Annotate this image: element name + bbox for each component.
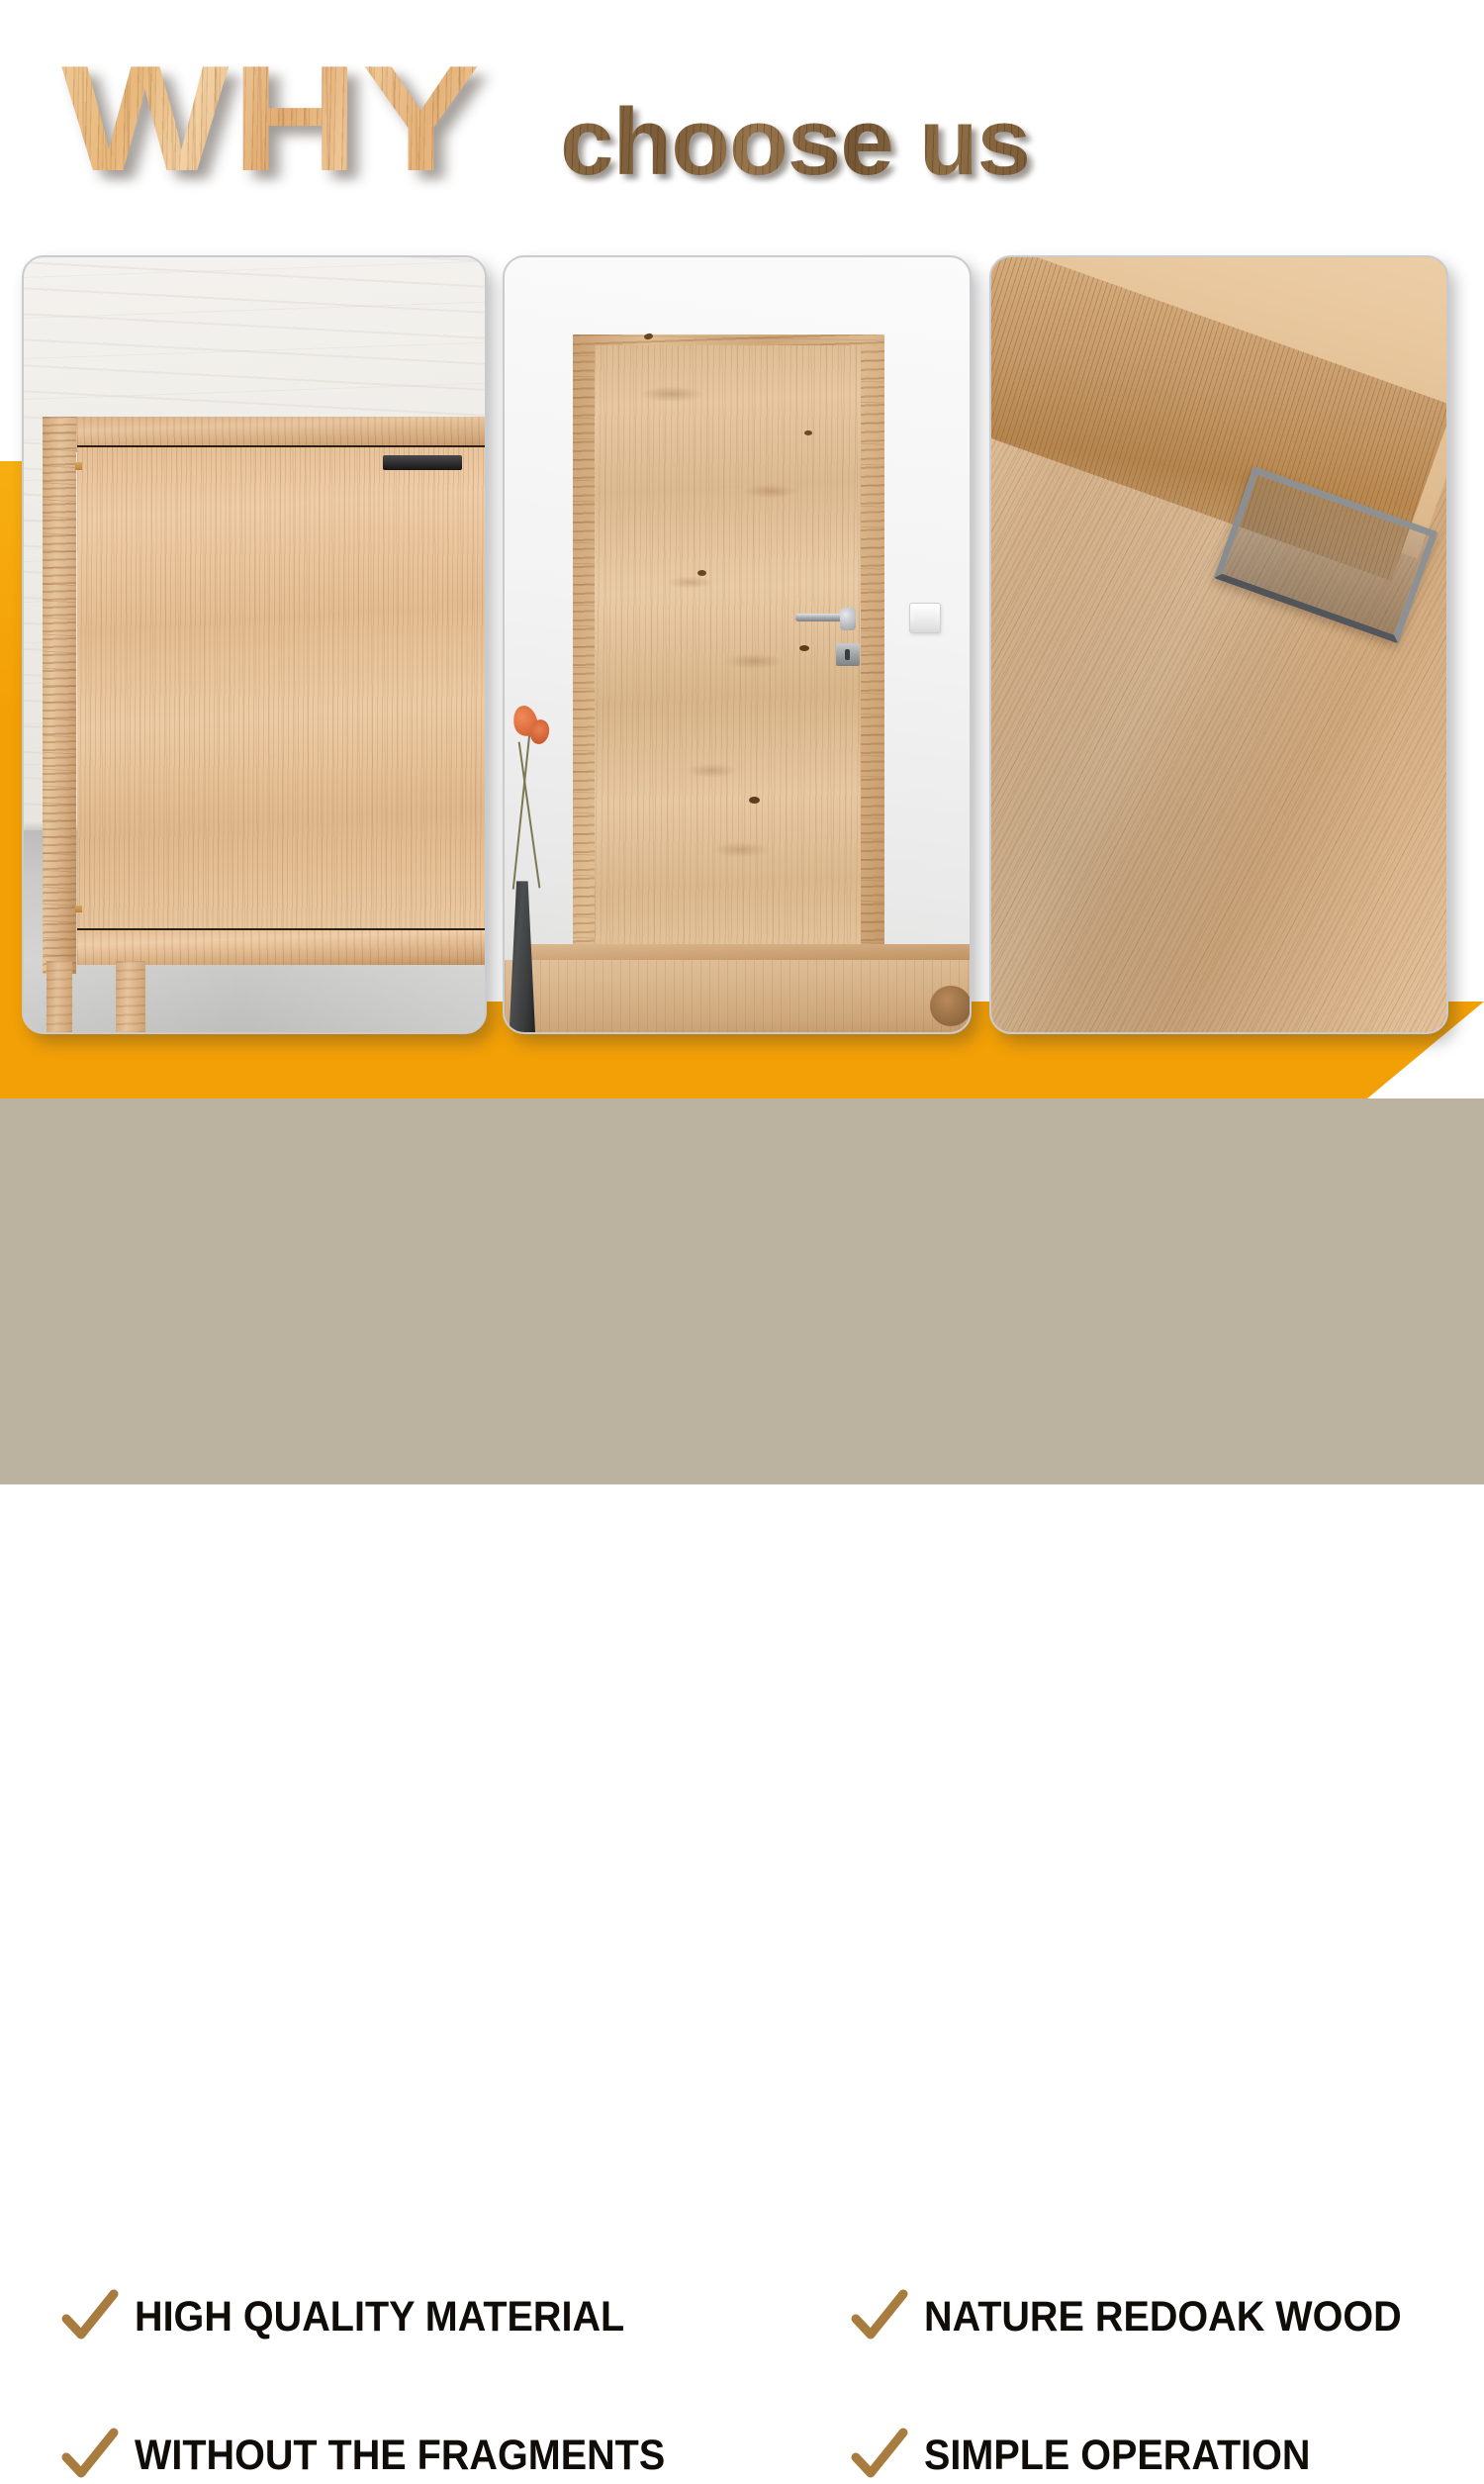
- page-title-secondary: choose us: [560, 95, 1030, 190]
- oak-plank-floor: [505, 960, 970, 1032]
- feature-label: WITHOUT THE FRAGMENTS: [135, 2433, 665, 2478]
- wood-knot: [749, 797, 760, 804]
- cabinet-leg-front: [46, 961, 72, 1032]
- features-panel: HIGH QUALITY MATERIAL NATURE REDOAK WOOD…: [0, 1099, 1484, 1484]
- feature-label: SIMPLE OPERATION: [924, 2433, 1311, 2478]
- check-icon: [61, 2288, 119, 2345]
- check-icon: [851, 2427, 908, 2484]
- cabinet-hinge-top: [75, 462, 82, 470]
- feature-item: NATURE REDOAK WOOD: [851, 2288, 1443, 2345]
- light-switch: [909, 603, 941, 633]
- cabinet-bar-handle: [383, 455, 461, 470]
- door-handle-rose: [840, 608, 856, 630]
- oak-door-leaf: [595, 345, 861, 953]
- oak-panel-handle-photo: [991, 257, 1446, 1032]
- check-icon: [851, 2288, 908, 2345]
- cabinet-leg-rear: [116, 961, 145, 1032]
- wood-knot: [697, 570, 706, 576]
- feature-label: HIGH QUALITY MATERIAL: [135, 2294, 624, 2340]
- feature-item: SIMPLE OPERATION: [851, 2427, 1344, 2484]
- oak-door-photo: [505, 257, 970, 1032]
- photo-gallery: [0, 255, 1484, 1037]
- oak-sideboard-photo: [24, 257, 485, 1032]
- gallery-photo-card[interactable]: [503, 255, 972, 1034]
- feature-item: HIGH QUALITY MATERIAL: [61, 2288, 667, 2345]
- feature-item: WITHOUT THE FRAGMENTS: [61, 2427, 711, 2484]
- check-icon: [61, 2427, 119, 2484]
- gallery-photo-card[interactable]: [989, 255, 1448, 1034]
- header-banner: WHY choose us: [0, 0, 1484, 238]
- door-lock-escutcheon: [836, 643, 860, 666]
- photo-vignette: [991, 257, 1446, 1032]
- cabinet-hinge-bottom: [75, 906, 82, 913]
- cabinet-flap-door: [77, 445, 485, 931]
- gallery-photo-card[interactable]: [22, 255, 487, 1034]
- feature-label: NATURE REDOAK WOOD: [924, 2294, 1402, 2340]
- cabinet-bottom-rail: [77, 928, 485, 964]
- wooden-bowl: [930, 986, 970, 1026]
- page-title-primary: WHY: [61, 44, 483, 194]
- cabinet-left-post: [43, 417, 76, 975]
